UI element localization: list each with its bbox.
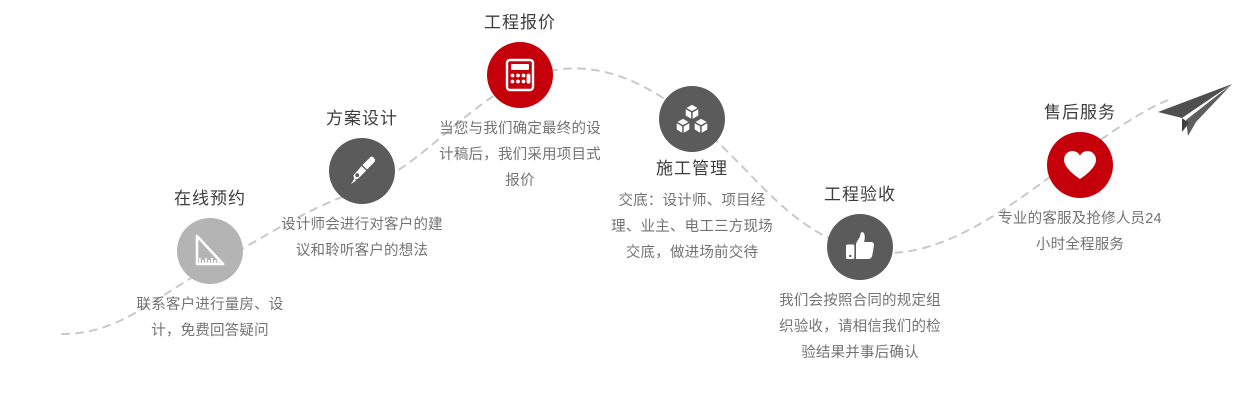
step-title: 施工管理	[592, 158, 792, 180]
calculator-icon	[487, 42, 553, 108]
boxes-icon	[659, 86, 725, 152]
thumbs-up-icon	[827, 214, 893, 280]
service-process-diagram: 在线预约 联系客户进行量房、设计，免费回答疑问 方案设计	[0, 0, 1245, 402]
process-step-acceptance: 工程验收 我们会按照合同的规定组织验收，请相信我们的检验结果并事后确认	[760, 184, 960, 366]
heart-icon	[1047, 132, 1113, 198]
step-title: 工程验收	[760, 184, 960, 206]
step-description: 专业的客服及抢修人员24小时全程服务	[996, 206, 1164, 258]
paper-plane-arrow-icon	[1148, 82, 1236, 138]
step-description: 当您与我们确定最终的设计稿后，我们采用项目式报价	[436, 116, 604, 194]
pen-nib-icon	[329, 138, 395, 204]
step-description: 交底：设计师、项目经理、业主、电工三方现场交底，做进场前交待	[608, 188, 776, 266]
ruler-triangle-icon	[177, 218, 243, 284]
step-title: 工程报价	[420, 12, 620, 34]
step-description: 我们会按照合同的规定组织验收，请相信我们的检验结果并事后确认	[776, 288, 944, 366]
process-step-quotation: 工程报价 当您与我们确定最终的设计稿后，我们采用项目式报价	[420, 12, 620, 194]
step-description: 设计师会进行对客户的建议和聆听客户的想法	[278, 212, 446, 264]
step-description: 联系客户进行量房、设计，免费回答疑问	[126, 292, 294, 344]
